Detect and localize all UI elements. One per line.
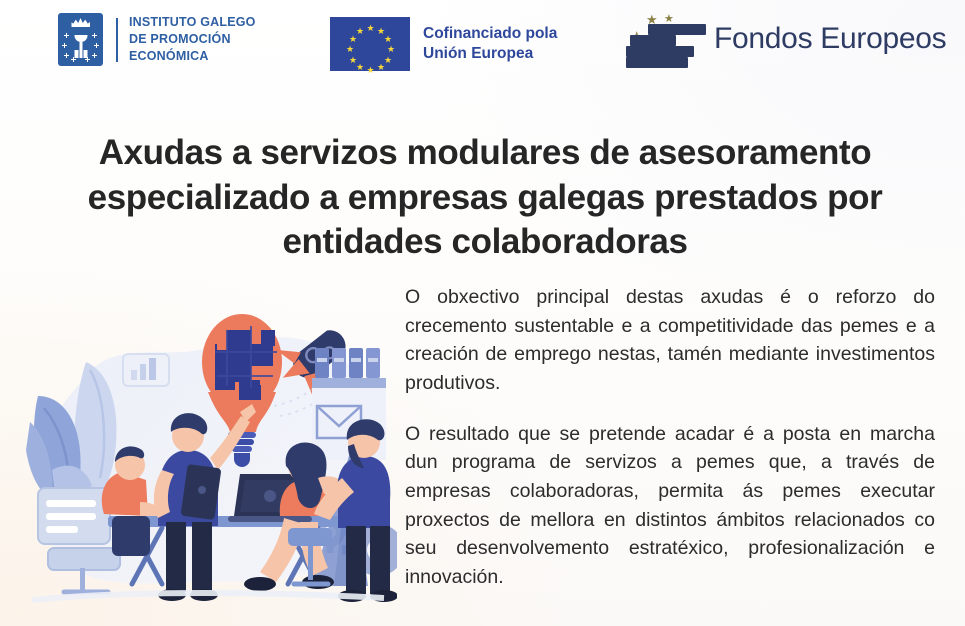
logo-union-europea: ★ ★ ★ ★ ★ ★ ★ ★ ★ ★ ★ ★ Cofinanciado pol… xyxy=(330,17,557,71)
igpe-line-1: INSTITUTO GALEGO xyxy=(129,14,256,31)
eu-line-2: Unión Europea xyxy=(423,44,557,64)
body-paragraph-2: O resultado que se pretende acadar é a p… xyxy=(405,420,935,592)
plant-icon xyxy=(26,362,116,504)
igpe-logo-text: INSTITUTO GALEGO DE PROMOCIÓN ECONÓMICA xyxy=(129,14,256,65)
european-union-flag-icon: ★ ★ ★ ★ ★ ★ ★ ★ ★ ★ ★ ★ xyxy=(330,17,410,71)
igpe-line-3: ECONÓMICA xyxy=(129,48,256,65)
xunta-de-galicia-coat-of-arms-icon xyxy=(58,13,103,66)
logo-fondos-europeos: ★ ★ ★ Fondos Europeos xyxy=(620,8,946,70)
page-title-line-1: Axudas a servizos modulares de asesorame… xyxy=(40,131,930,175)
eu-line-1: Cofinanciado pola xyxy=(423,24,557,44)
body-text-column: O obxectivo principal destas axudas é o … xyxy=(405,283,935,592)
fondos-europeos-mark-icon: ★ ★ ★ xyxy=(620,8,708,70)
eu-logo-text: Cofinanciado pola Unión Europea xyxy=(423,24,557,64)
page-title-line-3: entidades colaboradoras xyxy=(40,220,930,264)
logo-divider xyxy=(116,18,118,62)
logo-instituto-galego-de-promocion-economica: INSTITUTO GALEGO DE PROMOCIÓN ECONÓMICA xyxy=(58,13,256,66)
fondos-europeos-label: Fondos Europeos xyxy=(714,22,946,56)
page-title: Axudas a servizos modulares de asesorame… xyxy=(40,131,930,263)
page-title-line-2: especializado a empresas galegas prestad… xyxy=(40,176,930,220)
team-brainstorming-illustration xyxy=(12,300,397,620)
body-paragraph-1: O obxectivo principal destas axudas é o … xyxy=(405,283,935,398)
igpe-line-2: DE PROMOCIÓN xyxy=(129,31,256,48)
logo-bar: INSTITUTO GALEGO DE PROMOCIÓN ECONÓMICA … xyxy=(0,0,965,88)
